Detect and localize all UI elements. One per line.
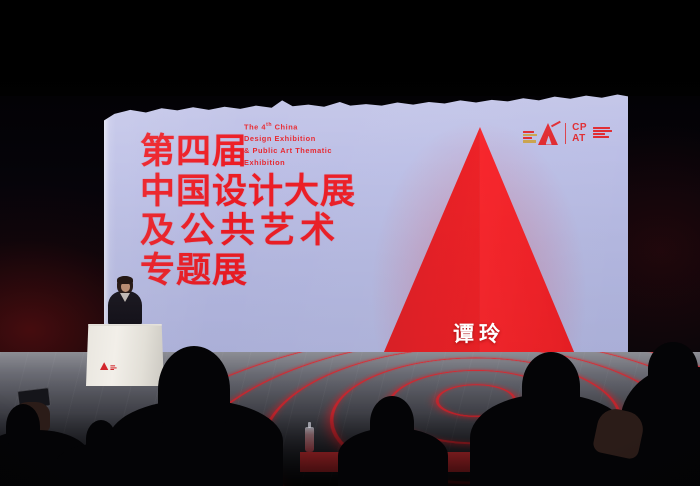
- public-art-thematic-logo-icon: [593, 127, 612, 140]
- chinese-title-line-4: 专题展: [140, 251, 390, 291]
- english-title-prefix: The 4: [244, 122, 266, 131]
- english-title-line-1: The 4th China: [244, 121, 332, 133]
- hall-ceiling: [0, 0, 700, 96]
- speaker-name: 谭玲: [381, 323, 577, 346]
- water-bottle: [305, 427, 314, 452]
- audience-head: [6, 404, 40, 444]
- audience-head: [370, 396, 414, 444]
- led-screen: 第四届 中国设计大展 及公共艺术 专题展 The 4th China Desig…: [104, 94, 628, 359]
- english-title-line-4: Exhibition: [244, 157, 332, 169]
- audience-head: [158, 346, 230, 424]
- speaker-hair: [117, 276, 133, 284]
- audience-head: [522, 352, 580, 414]
- chinese-title-line-3: 及公共艺术: [140, 211, 390, 251]
- chinese-title-line-2: 中国设计大展: [140, 172, 390, 212]
- audience-foreground: [0, 346, 700, 486]
- english-title: The 4th China Design Exhibition & Public…: [244, 121, 332, 169]
- speaker-figure: [108, 276, 142, 324]
- english-title-line-2: Design Exhibition: [244, 133, 332, 145]
- red-pyramid-graphic: 谭玲 广东省人大常委会副主任: [381, 127, 577, 359]
- english-title-suffix: China: [272, 122, 298, 131]
- stage-photo-scene: 第四届 中国设计大展 及公共艺术 专题展 The 4th China Desig…: [0, 0, 700, 486]
- english-title-line-3: & Public Art Thematic: [244, 145, 332, 157]
- audience-head: [648, 342, 698, 390]
